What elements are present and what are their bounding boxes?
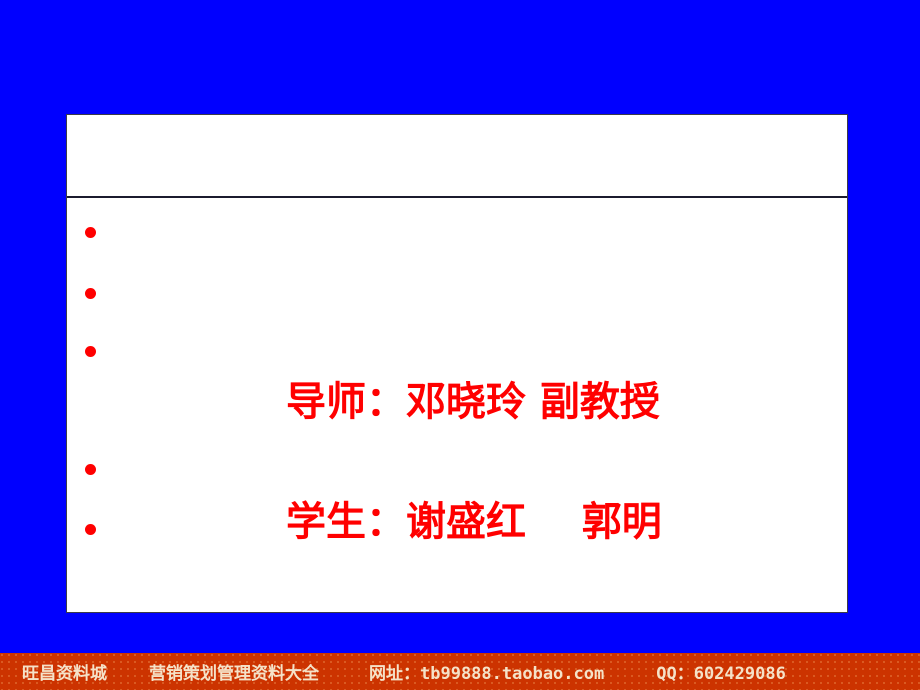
bullet-marker-1 [85,227,96,238]
students-line: 学生：谢盛红 郭明 [286,500,662,544]
footer-tagline-label: 营销策划管理资料大全 [149,659,319,684]
bullet-marker-4 [85,464,96,475]
title-divider [67,196,847,198]
presentation-slide: 导师：邓晓玲 副教授 学生：谢盛红 郭明 旺昌资料城 营销策划管理资料大全 网址… [0,0,920,690]
footer-website-label[interactable]: 网址：tb99888.taobao.com [369,659,604,684]
footer-banner: 旺昌资料城 营销策划管理资料大全 网址：tb99888.taobao.com Q… [0,653,920,690]
bullet-marker-2 [85,288,96,299]
bullet-marker-3 [85,346,96,357]
footer-brand-label: 旺昌资料城 [22,659,107,684]
footer-qq-label: QQ：602429086 [656,659,786,684]
bullet-marker-5 [85,524,96,535]
slide-title-region[interactable] [67,115,847,196]
slide-content-card: 导师：邓晓玲 副教授 学生：谢盛红 郭明 [66,114,848,613]
advisor-line: 导师：邓晓玲 副教授 [286,380,660,424]
